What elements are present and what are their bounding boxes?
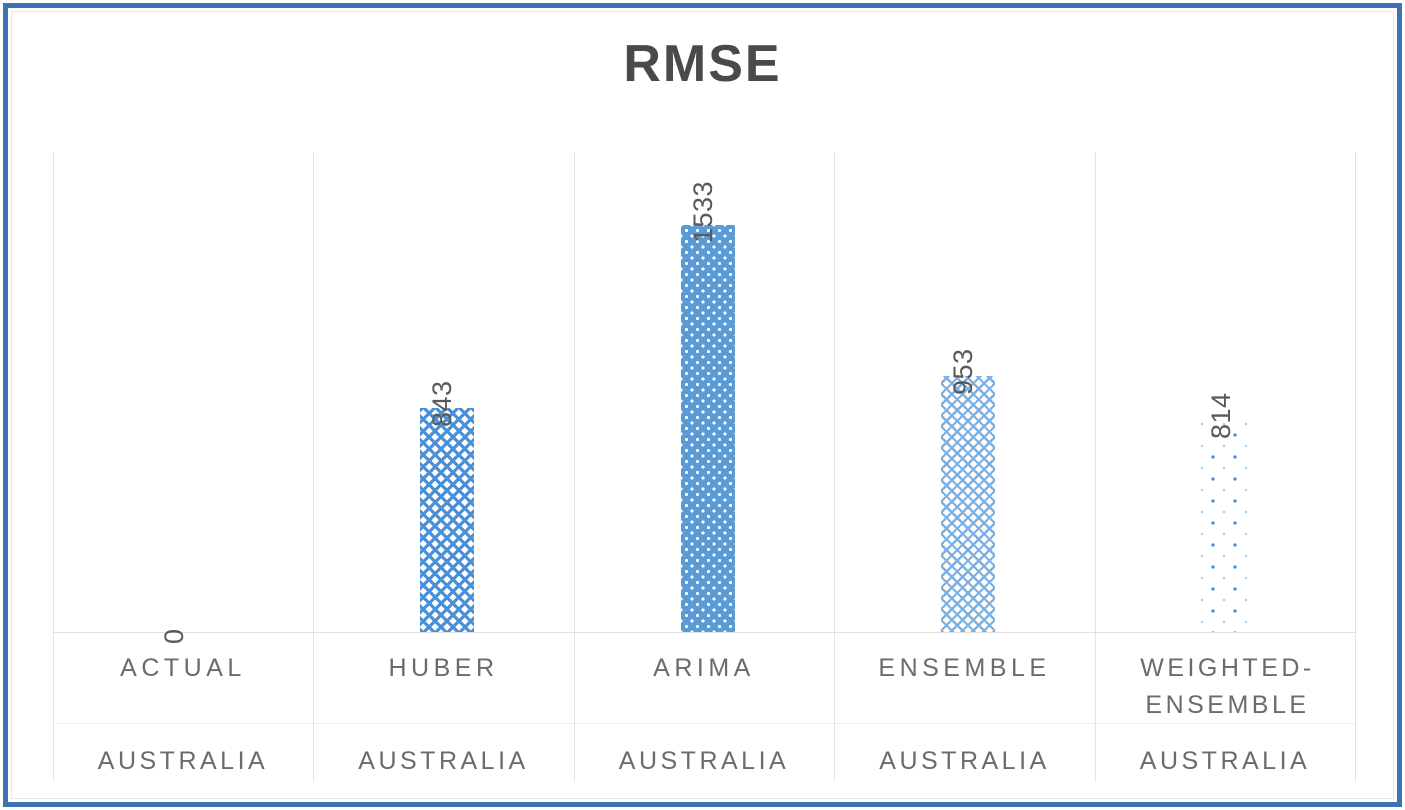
chart-title: RMSE [0, 38, 1405, 90]
region-label-arima: AUSTRALIA [574, 746, 834, 776]
category-label-arima: ARIMA [574, 650, 834, 687]
category-label-actual: ACTUAL [53, 650, 313, 687]
category-label-huber: HUBER [313, 650, 574, 687]
category-label-weighted-ensemble: WEIGHTED-ENSEMBLE [1100, 650, 1355, 724]
bar-huber[interactable] [420, 408, 474, 632]
category-axis-line [53, 632, 1355, 633]
region-label-weighted-ensemble: AUSTRALIA [1095, 746, 1355, 776]
data-label-arima: 1533 [688, 181, 719, 243]
data-label-weighted-ensemble: 814 [1206, 392, 1237, 439]
chart-figure: RMSE 0 843 1533 953 814 ACTUAL HUBER ARI… [0, 0, 1405, 810]
category-separator [1355, 152, 1356, 782]
region-label-actual: AUSTRALIA [53, 746, 313, 776]
data-label-ensemble: 953 [948, 348, 979, 395]
region-label-ensemble: AUSTRALIA [834, 746, 1095, 776]
bar-weighted-ensemble[interactable] [1198, 420, 1252, 632]
data-label-actual: 0 [159, 628, 190, 644]
bar-arima[interactable] [681, 225, 735, 632]
data-label-huber: 843 [427, 380, 458, 427]
region-label-huber: AUSTRALIA [313, 746, 574, 776]
category-label-ensemble: ENSEMBLE [834, 650, 1095, 687]
bar-ensemble[interactable] [941, 376, 995, 632]
